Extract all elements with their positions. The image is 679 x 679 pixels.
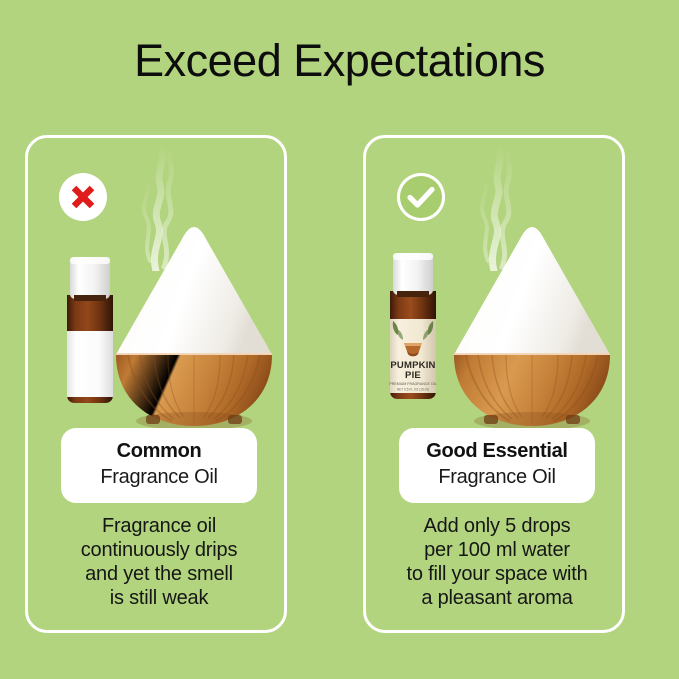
diffuser-icon bbox=[448, 225, 616, 430]
product-scene-common bbox=[28, 193, 284, 458]
description-line: per 100 ml water bbox=[372, 538, 622, 562]
chip-title: Common bbox=[67, 439, 251, 464]
bottle-label-line3: PREMIUM FRAGRANCE OIL bbox=[389, 382, 436, 386]
diffuser-icon bbox=[110, 225, 278, 430]
product-chip-good-essential: Good Essential Fragrance Oil bbox=[399, 428, 595, 503]
status-badge-positive bbox=[397, 173, 445, 221]
description-line: and yet the smell bbox=[34, 562, 284, 586]
fragrance-bottle-common bbox=[61, 255, 119, 403]
description-line: a pleasant aroma bbox=[372, 586, 622, 610]
description-line: Add only 5 drops bbox=[372, 514, 622, 538]
description-line: is still weak bbox=[34, 586, 284, 610]
description-line: to fill your space with bbox=[372, 562, 622, 586]
description-line: Fragrance oil bbox=[34, 514, 284, 538]
comparison-card-common: Common Fragrance Oil Fragrance oil conti… bbox=[25, 135, 287, 633]
page-title: Exceed Expectations bbox=[0, 33, 679, 89]
check-icon bbox=[397, 173, 445, 221]
product-chip-common: Common Fragrance Oil bbox=[61, 428, 257, 503]
description-good-essential: Add only 5 drops per 100 ml water to fil… bbox=[372, 514, 622, 610]
product-scene-good-essential: PUMPKIN PIE PREMIUM FRAGRANCE OIL NET 0.… bbox=[366, 193, 622, 458]
chip-subtitle: Fragrance Oil bbox=[67, 464, 251, 490]
description-line: continuously drips bbox=[34, 538, 284, 562]
bottle-label-line2: PIE bbox=[405, 370, 421, 381]
status-badge-negative bbox=[59, 173, 107, 221]
promo-graphic: Exceed Expectations bbox=[0, 0, 679, 679]
chip-subtitle: Fragrance Oil bbox=[405, 464, 589, 490]
fragrance-bottle-pumpkin-pie[interactable]: PUMPKIN PIE PREMIUM FRAGRANCE OIL NET 0.… bbox=[384, 251, 442, 399]
cross-icon bbox=[68, 182, 98, 212]
comparison-card-good-essential: PUMPKIN PIE PREMIUM FRAGRANCE OIL NET 0.… bbox=[363, 135, 625, 633]
chip-title: Good Essential bbox=[405, 439, 589, 464]
bottle-label-line4: NET 0.5 FL OZ (15 ml) bbox=[397, 388, 429, 392]
description-common: Fragrance oil continuously drips and yet… bbox=[34, 514, 284, 610]
